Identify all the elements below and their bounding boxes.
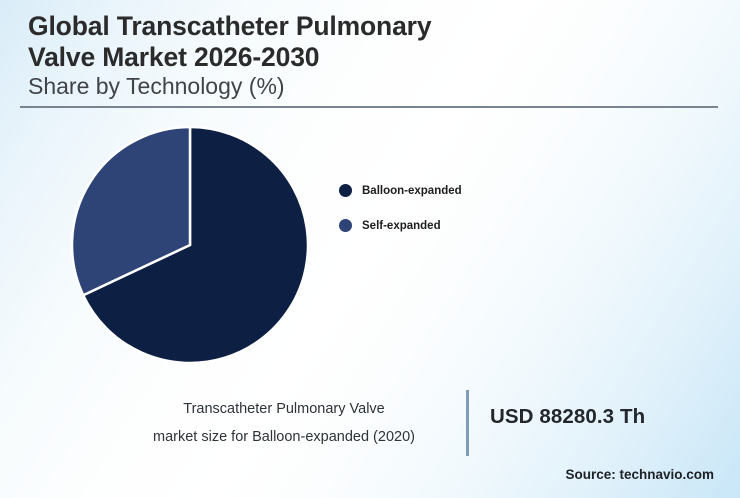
footer-caption-line-1: Transcatheter Pulmonary Valve xyxy=(110,396,458,424)
circle-dot-icon xyxy=(339,184,352,197)
legend-item-balloon-expanded[interactable]: Balloon-expanded xyxy=(339,173,569,208)
legend-item-label: Self-expanded xyxy=(362,220,441,232)
pie-chart-svg xyxy=(66,122,314,370)
legend-item-self-expanded[interactable]: Self-expanded xyxy=(339,208,569,243)
footer-caption: Transcatheter Pulmonary Valve market siz… xyxy=(110,396,458,451)
page-subtitle: Share by Technology (%) xyxy=(28,73,718,101)
legend-item-label: Balloon-expanded xyxy=(362,185,462,197)
footer-highlight-value: USD 88280.3 Th xyxy=(490,405,645,429)
chart-legend: Balloon-expanded Self-expanded xyxy=(339,173,569,243)
infographic-canvas: Global Transcatheter Pulmonary Valve Mar… xyxy=(0,0,740,498)
circle-dot-icon xyxy=(339,219,352,232)
header-block: Global Transcatheter Pulmonary Valve Mar… xyxy=(28,11,718,101)
pie-chart xyxy=(66,122,314,370)
header-divider-rule xyxy=(20,106,718,108)
source-attribution: Source: technavio.com xyxy=(565,467,714,482)
page-title-line-1: Global Transcatheter Pulmonary xyxy=(28,11,718,42)
footer-caption-line-2: market size for Balloon-expanded (2020) xyxy=(110,424,458,452)
page-title-line-2: Valve Market 2026-2030 xyxy=(28,42,718,73)
footer-vertical-divider xyxy=(466,390,469,456)
